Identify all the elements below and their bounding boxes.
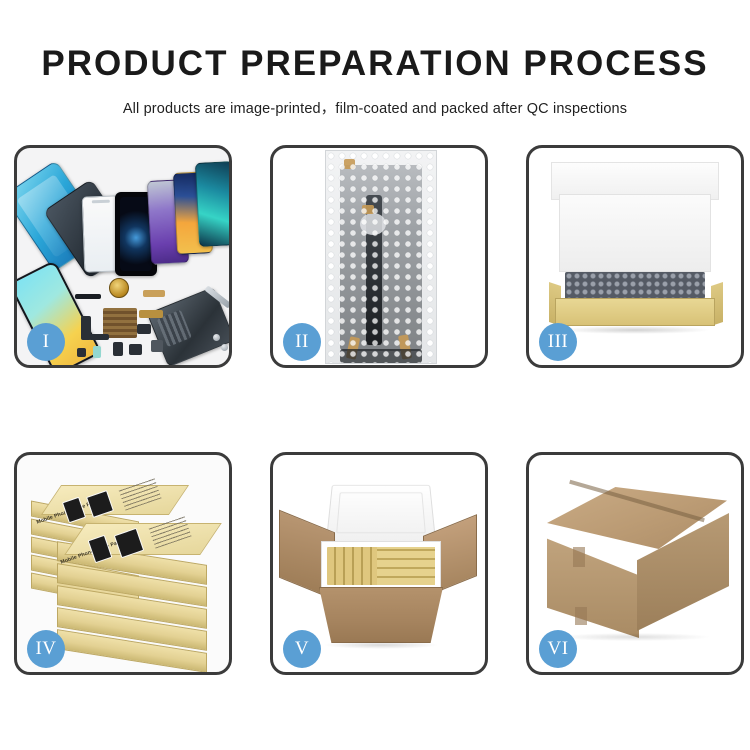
screw-icon [213,334,220,341]
foam-padding-icon [565,272,705,300]
screw-icon [221,344,228,351]
small-part-icon [113,342,123,356]
phone-green-icon [195,161,229,247]
carton-tape-icon [575,607,587,625]
small-part-icon [93,346,101,358]
flex-cable-icon [89,334,109,340]
part-base-icon [340,349,422,363]
small-part-icon [137,324,151,334]
tape-icon [344,159,355,169]
step-badge: II [283,323,321,361]
step-4-boxes-stacked: Mobile Phone Spare Parts Mobile Phone Sp… [14,452,232,675]
page-title: PRODUCT PREPARATION PROCESS [0,0,750,81]
box-back-wall-icon [559,194,711,272]
packed-boxes-icon [377,547,435,585]
step-badge: V [283,630,321,668]
step-badge: III [539,323,577,361]
page-subtitle: All products are image-printed，film-coat… [0,81,750,118]
step-1-products-and-parts: I [14,145,232,368]
box-shadow [559,326,711,334]
carton-left-face-icon [547,530,639,638]
step-badge: IV [27,630,65,668]
bubble-wrap-bag-icon [325,150,437,364]
process-steps-grid: I II [14,145,745,675]
foam-lid-icon [326,485,436,543]
carton-tape-icon [573,547,585,567]
flex-cable-icon [139,310,163,318]
speaker-coil-icon [109,278,129,298]
connector-icon [360,213,386,235]
box-front-wall-icon [555,298,715,326]
step-2-bubble-wrapped: II [270,145,488,368]
step-badge: VI [539,630,577,668]
flex-cable-icon [75,294,101,299]
header: PRODUCT PREPARATION PROCESS All products… [0,0,750,118]
step-5-carton-loading: V [270,452,488,675]
tape-icon [362,205,374,214]
product-preparation-process-page: PRODUCT PREPARATION PROCESS All products… [0,0,750,750]
step-6-sealed-carton: VI [526,452,744,675]
step-3-inner-box-foam: III [526,145,744,368]
carton-front-icon [319,587,443,643]
carton-shadow [323,641,439,649]
flex-cable-icon [143,290,165,297]
carton-shadow [559,633,709,641]
small-part-icon [129,344,142,355]
step-badge: I [27,323,65,361]
small-part-icon [77,348,86,357]
small-part-icon [151,340,163,352]
